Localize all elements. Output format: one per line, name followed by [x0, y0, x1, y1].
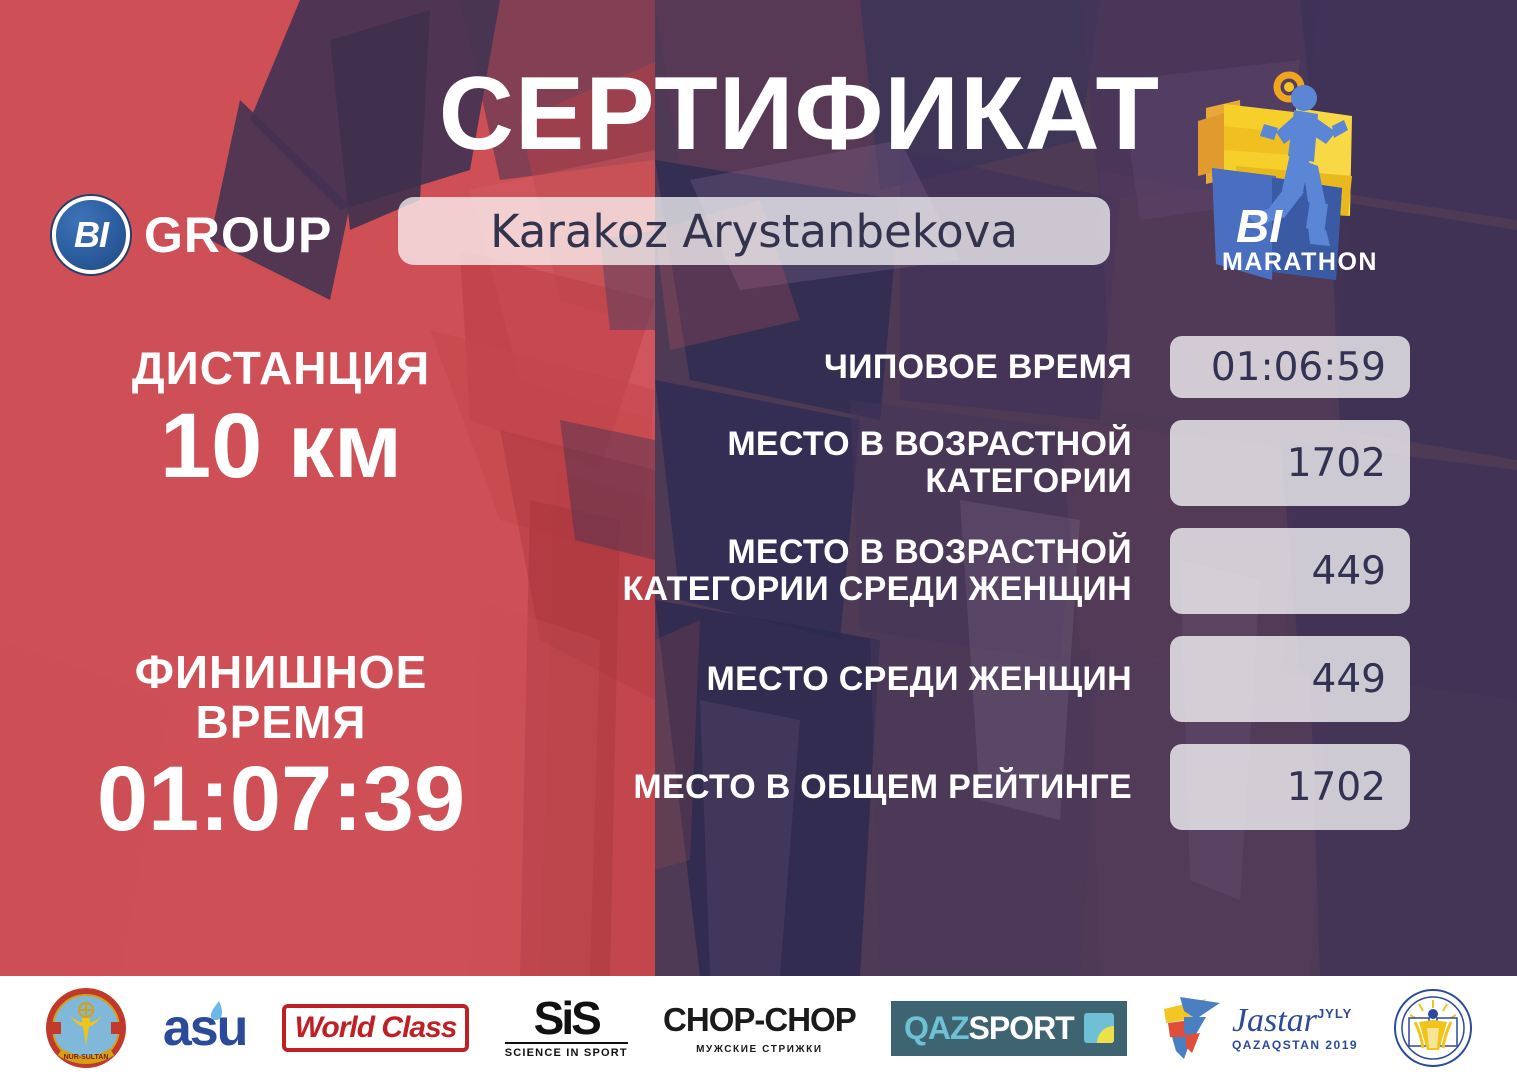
chop-chop-tagline: МУЖСКИЕ СТРИЖКИ [663, 1044, 856, 1055]
sponsor-sis: SiS SCIENCE IN SPORT [505, 985, 628, 1071]
jastar-superscript: JYLY [1317, 1006, 1352, 1021]
jastar-arrow-icon [1162, 993, 1226, 1063]
sis-wordmark: SiS [505, 997, 628, 1039]
stat-label: МЕСТО В ВОЗРАСТНОЙ КАТЕГОРИИ СРЕДИ ЖЕНЩИ… [512, 534, 1170, 607]
stat-row: МЕСТО В ВОЗРАСТНОЙ КАТЕГОРИИ СРЕДИ ЖЕНЩИ… [490, 528, 1410, 614]
stat-value: 449 [1170, 636, 1410, 722]
stat-label: МЕСТО В ВОЗРАСТНОЙ КАТЕГОРИИ [512, 426, 1170, 499]
jastar-subtitle: QAZAQSTAN 2019 [1232, 1038, 1358, 1052]
stat-label: МЕСТО СРЕДИ ЖЕНЩИН [706, 661, 1170, 698]
bi-badge-label: BI [74, 214, 108, 256]
stat-row: ЧИПОВОЕ ВРЕМЯ 01:06:59 [490, 336, 1410, 398]
stat-row: МЕСТО СРЕДИ ЖЕНЩИН 449 [490, 636, 1410, 722]
world-class-box: World Class [282, 1004, 470, 1052]
stat-value: 01:06:59 [1170, 336, 1410, 398]
stat-value: 449 [1170, 528, 1410, 614]
sponsor-qazsport: QAZ SPORT [891, 985, 1127, 1071]
participant-name-badge: Karakoz Arystanbekova [398, 197, 1110, 265]
chop-chop-wordmark: CHOP-CHOP [663, 1001, 856, 1039]
stat-value: 1702 [1170, 744, 1410, 830]
sis-tagline: SCIENCE IN SPORT [505, 1042, 628, 1059]
sponsor-world-class: World Class [282, 985, 470, 1071]
sponsor-nur-sultan: NUR-SULTAN [44, 985, 128, 1071]
qazsport-square-icon [1084, 1013, 1114, 1043]
world-class-wordmark: World Class [295, 1011, 457, 1045]
marathon-logo-line1: BI [1236, 200, 1283, 252]
nur-sultan-emblem-icon: NUR-SULTAN [44, 986, 128, 1070]
bi-circle-icon: BI [52, 196, 130, 274]
ministry-emblem-icon [1393, 988, 1473, 1068]
stats-list: ЧИПОВОЕ ВРЕМЯ 01:06:59 МЕСТО В ВОЗРАСТНО… [490, 336, 1410, 852]
bi-group-wordmark: GROUP [144, 206, 332, 264]
marathon-logo-line2: MARATHON [1222, 248, 1378, 276]
jastar-wordmark: Jastar [1232, 1004, 1317, 1038]
nur-sultan-label: NUR-SULTAN [63, 1054, 108, 1061]
finish-time-label-line1: ФИНИШНОЕ [0, 648, 562, 698]
asu-wordmark: asu [163, 1002, 247, 1054]
stat-row: МЕСТО В ВОЗРАСТНОЙ КАТЕГОРИИ 1702 [490, 420, 1410, 506]
bi-marathon-logo: BI MARATHON [1176, 66, 1382, 306]
bi-group-logo: BI GROUP [52, 196, 332, 274]
qazsport-box: QAZ SPORT [891, 1001, 1127, 1056]
asu-droplet-icon [207, 1000, 227, 1022]
stat-label: ЧИПОВОЕ ВРЕМЯ [824, 349, 1170, 386]
sponsor-chop-chop: CHOP-CHOP МУЖСКИЕ СТРИЖКИ [663, 985, 856, 1071]
sponsor-ministry [1393, 985, 1473, 1071]
page-title: СЕРТИФИКАТ [0, 62, 1160, 166]
distance-value: 10 км [0, 398, 562, 495]
sponsor-asu: asu [163, 985, 247, 1071]
stat-label: МЕСТО В ОБЩЕМ РЕЙТИНГЕ [633, 769, 1170, 806]
sponsor-bar: NUR-SULTAN asu World Class SiS SCIENCE I… [0, 976, 1517, 1080]
sponsor-jastar-jyly: Jastar JYLY QAZAQSTAN 2019 [1162, 985, 1358, 1071]
finish-time-label-line2: ВРЕМЯ [0, 698, 562, 748]
stat-value: 1702 [1170, 420, 1410, 506]
certificate-canvas: СЕРТИФИКАТ BI GROUP Karakoz Arystanbekov… [0, 0, 1517, 1080]
distance-label: ДИСТАНЦИЯ [0, 344, 562, 394]
finish-time-value: 01:07:39 [0, 751, 562, 848]
distance-block: ДИСТАНЦИЯ 10 км [0, 344, 562, 494]
qazsport-wordmark-sport: SPORT [968, 1010, 1073, 1047]
stat-row: МЕСТО В ОБЩЕМ РЕЙТИНГЕ 1702 [490, 744, 1410, 830]
finish-time-block: ФИНИШНОЕ ВРЕМЯ 01:07:39 [0, 648, 562, 848]
qazsport-wordmark-qaz: QAZ [904, 1010, 969, 1047]
